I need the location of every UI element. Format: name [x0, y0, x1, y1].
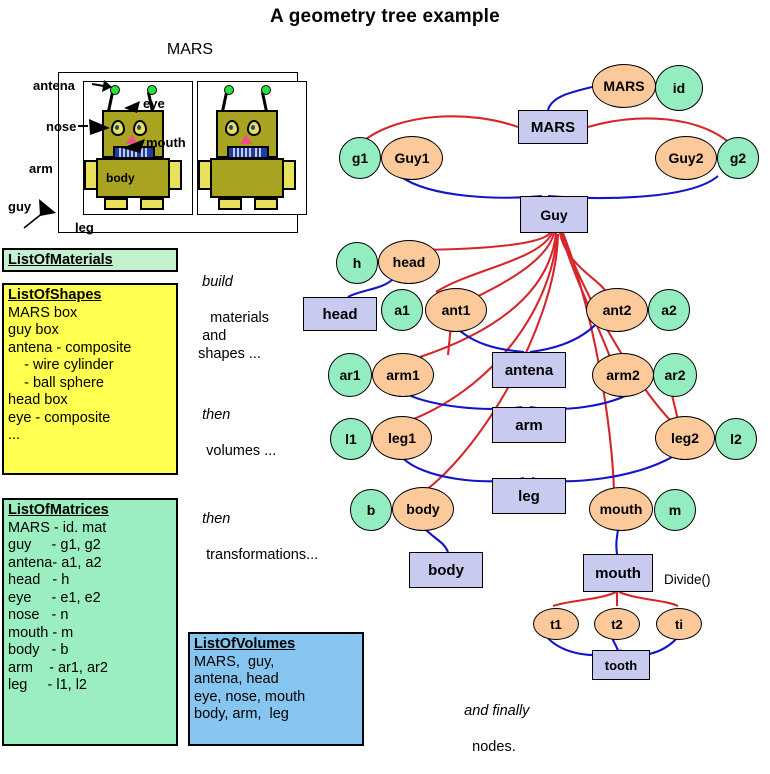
node-label: leg1 [388, 430, 416, 446]
graph-node-e-t2[interactable]: t2 [594, 608, 640, 640]
annotation-text: nodes. [464, 739, 516, 755]
divide-label: Divide() [664, 572, 711, 587]
node-label: m [669, 502, 681, 518]
graph-node-e-ant1[interactable]: ant1 [425, 288, 487, 332]
picture-label-leg: leg [75, 220, 94, 235]
list-item: head box [8, 392, 172, 410]
robot-leg-left [218, 198, 242, 210]
mars-world-box: body [58, 72, 298, 233]
graph-node-r-body[interactable]: body [409, 552, 483, 588]
guy-box-2 [197, 81, 307, 215]
list-of-matrices-box[interactable]: ListOfMatrices MARS - id. mat guy - g1, … [2, 498, 178, 746]
graph-node-c-h[interactable]: h [336, 242, 378, 284]
list-item: eye - e1, e2 [8, 590, 172, 608]
list-title: ListOfVolumes [194, 636, 358, 654]
robot-leg-right [140, 198, 164, 210]
annotation-build: build materials and shapes ... [186, 255, 269, 381]
picture-label-antena: antena [33, 78, 75, 93]
annotation-text: materials and shapes ... [186, 310, 269, 362]
robot-leg-left [104, 198, 128, 210]
graph-node-c-ar2[interactable]: ar2 [653, 353, 697, 397]
graph-node-r-antena[interactable]: antena [492, 352, 566, 388]
graph-node-e-guy1[interactable]: Guy1 [381, 136, 443, 180]
list-item: antena, head [194, 671, 358, 689]
node-label: body [428, 562, 464, 579]
page-title: A geometry tree example [0, 6, 770, 28]
node-label: leg2 [671, 430, 699, 446]
annotation-and-finally: and finally nodes. [448, 684, 529, 774]
node-label: a1 [394, 302, 410, 318]
graph-node-e-t1[interactable]: t1 [533, 608, 579, 640]
graph-node-r-head[interactable]: head [303, 297, 377, 331]
list-item: antena- a1, a2 [8, 555, 172, 573]
node-label: Guy1 [394, 150, 429, 166]
node-label: leg [518, 488, 540, 505]
graph-node-c-l2[interactable]: l2 [715, 418, 757, 460]
eye-left-icon [111, 120, 125, 136]
node-label: body [406, 501, 439, 517]
antena-ball-right [147, 85, 157, 95]
graph-node-e-mars[interactable]: MARS [592, 64, 656, 108]
graph-node-c-g1[interactable]: g1 [339, 137, 381, 179]
node-label: l1 [345, 431, 357, 447]
picture-label-nose: nose [46, 119, 76, 134]
graph-node-r-tooth[interactable]: tooth [592, 650, 650, 680]
node-label: MARS [603, 78, 644, 94]
node-label: ti [675, 617, 683, 632]
graph-node-e-arm1[interactable]: arm1 [372, 353, 434, 397]
annotation-then-transformations: then transformations... [186, 492, 318, 582]
robot-nose [126, 134, 138, 144]
node-label: g1 [352, 150, 368, 166]
node-label: mouth [600, 501, 643, 517]
annotation-text: volumes ... [202, 443, 276, 459]
node-label: ant1 [442, 302, 471, 318]
graph-node-c-m[interactable]: m [654, 489, 696, 531]
graph-node-e-ant2[interactable]: ant2 [586, 288, 648, 332]
graph-node-e-body[interactable]: body [392, 487, 454, 531]
graph-node-c-id[interactable]: id [655, 65, 703, 111]
list-title: ListOfShapes [8, 287, 172, 305]
node-label: Guy [540, 207, 567, 223]
list-item: mouth - m [8, 625, 172, 643]
list-item: arm - ar1, ar2 [8, 660, 172, 678]
list-item: MARS, guy, [194, 654, 358, 672]
node-label: a2 [661, 302, 677, 318]
annotation-emphasis: and finally [464, 703, 529, 719]
node-label: t2 [611, 617, 623, 632]
list-item: leg - l1, l2 [8, 677, 172, 695]
list-item: - ball sphere [8, 375, 172, 393]
annotation-emphasis: then [202, 511, 230, 527]
list-of-materials-box[interactable]: ListOfMaterials [2, 248, 178, 272]
picture-label-arm: arm [29, 161, 53, 176]
annotation-emphasis: build [202, 274, 233, 290]
list-item: MARS - id. mat [8, 520, 172, 538]
list-of-shapes-box[interactable]: ListOfShapes MARS box guy box antena - c… [2, 283, 178, 475]
node-label: arm [515, 417, 543, 434]
graph-node-c-ar1[interactable]: ar1 [328, 353, 372, 397]
graph-node-r-arm[interactable]: arm [492, 407, 566, 443]
annotation-text: transformations... [202, 547, 318, 563]
graph-node-e-head[interactable]: head [378, 240, 440, 284]
list-item: guy box [8, 322, 172, 340]
eye-left-icon [225, 120, 239, 136]
annotation-then-volumes: then volumes ... [186, 388, 276, 478]
node-label: MARS [531, 119, 575, 136]
robot-nose [240, 134, 252, 144]
diagram-canvas: A geometry tree example MARS body [0, 0, 770, 752]
antena-ball-left [224, 85, 234, 95]
list-item: body, arm, leg [194, 706, 358, 724]
robot-body [210, 158, 284, 198]
list-item: head - h [8, 572, 172, 590]
graph-node-r-mouth[interactable]: mouth [583, 554, 653, 592]
list-item: eye, nose, mouth [194, 689, 358, 707]
list-item: - wire cylinder [8, 357, 172, 375]
graph-node-r-guy[interactable]: Guy [520, 196, 588, 233]
node-label: h [353, 255, 362, 271]
graph-node-e-arm2[interactable]: arm2 [592, 353, 654, 397]
antena-ball-left [110, 85, 120, 95]
node-label: t1 [550, 617, 562, 632]
list-item: antena - composite [8, 340, 172, 358]
node-label: Guy2 [668, 150, 703, 166]
graph-node-c-b[interactable]: b [350, 489, 392, 531]
node-label: arm1 [386, 367, 419, 383]
robot-leg-right [254, 198, 278, 210]
node-label: tooth [605, 658, 637, 673]
node-label: antena [505, 362, 553, 379]
graph-node-c-a1[interactable]: a1 [381, 289, 423, 331]
node-label: arm2 [606, 367, 639, 383]
antena-ball-right [261, 85, 271, 95]
graph-node-e-guy2[interactable]: Guy2 [655, 136, 717, 180]
node-label: l2 [730, 431, 742, 447]
graph-node-c-g2[interactable]: g2 [717, 137, 759, 179]
body-label: body [106, 171, 135, 185]
list-of-volumes-box[interactable]: ListOfVolumes MARS, guy, antena, head ey… [188, 632, 364, 746]
list-title: ListOfMatrices [8, 502, 172, 520]
picture-label-mouth: mouth [146, 135, 186, 150]
node-label: ar1 [339, 367, 360, 383]
list-title: ListOfMaterials [8, 252, 172, 270]
list-item: MARS box [8, 305, 172, 323]
graph-node-e-mouth[interactable]: mouth [589, 487, 653, 531]
graph-node-e-leg1[interactable]: leg1 [372, 416, 432, 460]
list-item: eye - composite [8, 410, 172, 428]
graph-node-c-l1[interactable]: l1 [330, 418, 372, 460]
graph-node-e-leg2[interactable]: leg2 [655, 416, 715, 460]
node-label: ar2 [664, 367, 685, 383]
list-item: ... [8, 427, 172, 445]
list-item: body - b [8, 642, 172, 660]
node-label: mouth [595, 565, 641, 582]
graph-node-c-a2[interactable]: a2 [648, 289, 690, 331]
list-item: nose - n [8, 607, 172, 625]
picture-label-eye: eye [143, 96, 165, 111]
list-item: guy - g1, g2 [8, 537, 172, 555]
annotation-emphasis: then [202, 407, 230, 423]
picture-caption: MARS [100, 41, 280, 59]
graph-node-e-ti[interactable]: ti [656, 608, 702, 640]
node-label: head [393, 254, 426, 270]
picture-label-guy: guy [8, 199, 31, 214]
node-label: head [322, 306, 357, 323]
graph-node-r-mars[interactable]: MARS [518, 110, 588, 144]
graph-node-r-leg[interactable]: leg [492, 478, 566, 514]
node-label: b [367, 502, 376, 518]
node-label: g2 [730, 150, 746, 166]
node-label: ant2 [603, 302, 632, 318]
node-label: id [673, 80, 685, 96]
